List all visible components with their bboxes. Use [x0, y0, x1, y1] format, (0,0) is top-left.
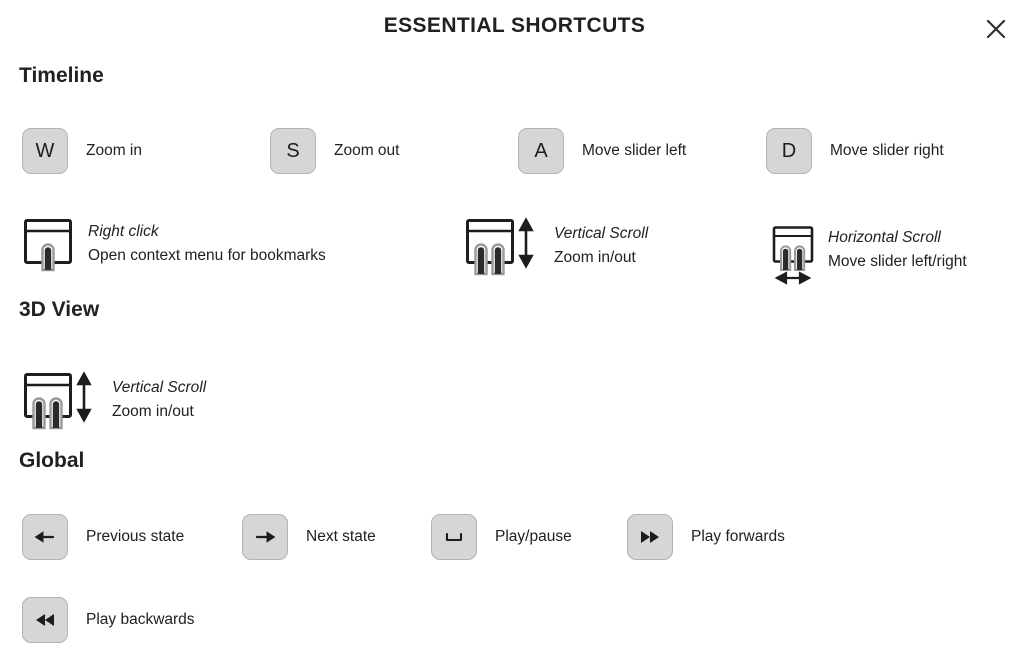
key-a-glyph: A — [534, 141, 547, 161]
fast-forward-icon — [637, 524, 663, 550]
touchpad-two-finger-vertical-scroll-icon — [464, 216, 540, 276]
section-title-global: Global — [0, 449, 84, 473]
shortcut-play-forwards: Play forwards — [627, 514, 785, 560]
gesture-vertical-scroll-timeline: Vertical Scroll Zoom in/out — [464, 216, 648, 276]
gesture-vertical-scroll-3d-labels: Vertical Scroll Zoom in/out — [112, 376, 206, 424]
gesture-horizontal-scroll-primary: Horizontal Scroll — [828, 226, 967, 250]
shortcut-previous-state: Previous state — [22, 514, 184, 560]
arrow-right-icon — [252, 524, 278, 550]
3d-view-gesture-row: Vertical Scroll Zoom in/out — [0, 370, 1029, 430]
gesture-horizontal-scroll-secondary: Move slider left/right — [828, 250, 967, 274]
key-arrow-left[interactable] — [22, 514, 68, 560]
gesture-vertical-scroll-3d-secondary: Zoom in/out — [112, 400, 206, 424]
shortcut-zoom-in: W Zoom in — [22, 128, 142, 174]
touchpad-two-finger-vertical-scroll-icon — [22, 370, 98, 430]
touchpad-one-finger-icon — [22, 216, 74, 272]
gesture-horizontal-scroll: Horizontal Scroll Move slider left/right — [770, 224, 967, 286]
key-w-glyph: W — [36, 141, 55, 161]
key-spacebar[interactable] — [431, 514, 477, 560]
section-title-timeline: Timeline — [0, 64, 104, 88]
gesture-right-click-labels: Right click Open context menu for bookma… — [88, 220, 326, 268]
shortcut-label-move-slider-right: Move slider right — [830, 142, 944, 160]
shortcut-play-pause: Play/pause — [431, 514, 572, 560]
gesture-horizontal-scroll-labels: Horizontal Scroll Move slider left/right — [828, 226, 967, 274]
shortcut-label-play-pause: Play/pause — [495, 528, 572, 546]
gesture-right-click-primary: Right click — [88, 220, 326, 244]
close-icon — [985, 18, 1007, 40]
shortcut-label-zoom-out: Zoom out — [334, 142, 399, 160]
page-title: ESSENTIAL SHORTCUTS — [0, 14, 1029, 38]
shortcut-label-play-backwards: Play backwards — [86, 611, 195, 629]
section-title-3d-view: 3D View — [0, 298, 99, 322]
gesture-vertical-scroll-3d: Vertical Scroll Zoom in/out — [22, 370, 206, 430]
shortcut-zoom-out: S Zoom out — [270, 128, 399, 174]
dialog-header: ESSENTIAL SHORTCUTS — [0, 0, 1029, 56]
key-d-glyph: D — [782, 141, 796, 161]
arrow-left-icon — [32, 524, 58, 550]
shortcut-label-move-slider-left: Move slider left — [582, 142, 686, 160]
gesture-vertical-scroll-timeline-secondary: Zoom in/out — [554, 246, 648, 270]
shortcut-move-slider-right: D Move slider right — [766, 128, 944, 174]
key-arrow-right[interactable] — [242, 514, 288, 560]
gesture-vertical-scroll-timeline-primary: Vertical Scroll — [554, 222, 648, 246]
key-w[interactable]: W — [22, 128, 68, 174]
shortcut-label-play-forwards: Play forwards — [691, 528, 785, 546]
key-fast-forward[interactable] — [627, 514, 673, 560]
timeline-gesture-row: Right click Open context menu for bookma… — [0, 220, 1029, 280]
key-s-glyph: S — [286, 141, 299, 161]
gesture-vertical-scroll-3d-primary: Vertical Scroll — [112, 376, 206, 400]
close-button[interactable] — [979, 12, 1013, 46]
touchpad-two-finger-horizontal-scroll-icon — [770, 224, 816, 286]
gesture-vertical-scroll-timeline-labels: Vertical Scroll Zoom in/out — [554, 222, 648, 270]
shortcut-label-next-state: Next state — [306, 528, 376, 546]
shortcut-next-state: Next state — [242, 514, 376, 560]
global-key-row-1: Previous state Next state Play/paus — [0, 514, 1029, 560]
key-d[interactable]: D — [766, 128, 812, 174]
shortcut-play-backwards: Play backwards — [22, 597, 195, 643]
timeline-key-row: W Zoom in S Zoom out A Move slider left … — [0, 128, 1029, 174]
rewind-icon — [32, 607, 58, 633]
global-key-row-2: Play backwards — [0, 597, 1029, 643]
spacebar-icon — [441, 524, 467, 550]
shortcut-label-previous-state: Previous state — [86, 528, 184, 546]
shortcut-label-zoom-in: Zoom in — [86, 142, 142, 160]
shortcut-move-slider-left: A Move slider left — [518, 128, 686, 174]
key-s[interactable]: S — [270, 128, 316, 174]
key-rewind[interactable] — [22, 597, 68, 643]
key-a[interactable]: A — [518, 128, 564, 174]
gesture-right-click: Right click Open context menu for bookma… — [22, 216, 326, 272]
gesture-right-click-secondary: Open context menu for bookmarks — [88, 244, 326, 268]
